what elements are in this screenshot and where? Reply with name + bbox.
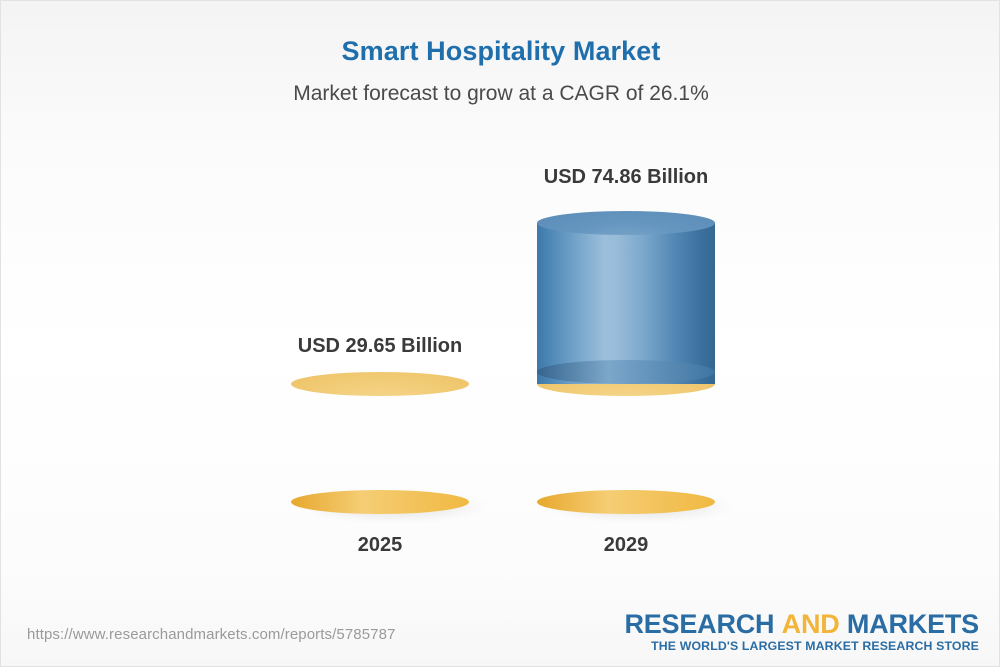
brand-word-research: RESEARCH [624, 609, 774, 639]
bar-base-ellipse [291, 490, 469, 514]
brand-word-markets: MARKETS [847, 609, 979, 639]
brand-word-and: AND [782, 609, 840, 639]
brand-name: RESEARCH AND MARKETS [624, 610, 979, 638]
chart-plot-area: USD 29.65 Billion 2025 USD 74.86 Billion… [1, 1, 1000, 601]
category-label-2029: 2029 [537, 534, 715, 557]
chart-footer: https://www.researchandmarkets.com/repor… [1, 604, 1000, 666]
source-url[interactable]: https://www.researchandmarkets.com/repor… [27, 626, 396, 643]
bar-segment-yellow [291, 372, 469, 514]
category-label-2025: 2025 [291, 534, 469, 557]
value-label-2029: USD 74.86 Billion [537, 166, 715, 189]
bar-segment-bottom-ellipse [537, 360, 715, 384]
bar-segment-yellow [537, 372, 715, 514]
brand-logo: RESEARCH AND MARKETS THE WORLD'S LARGEST… [624, 610, 979, 653]
bar-segment-blue [537, 211, 715, 384]
bar-2029 [537, 211, 715, 514]
value-label-2025: USD 29.65 Billion [291, 335, 469, 358]
infographic-root: Smart Hospitality Market Market forecast… [0, 0, 1000, 667]
bar-top-ellipse [291, 372, 469, 396]
bar-2025 [291, 372, 469, 514]
brand-tagline: THE WORLD'S LARGEST MARKET RESEARCH STOR… [624, 639, 979, 653]
bar-top-ellipse [537, 211, 715, 235]
bar-base-ellipse [537, 490, 715, 514]
